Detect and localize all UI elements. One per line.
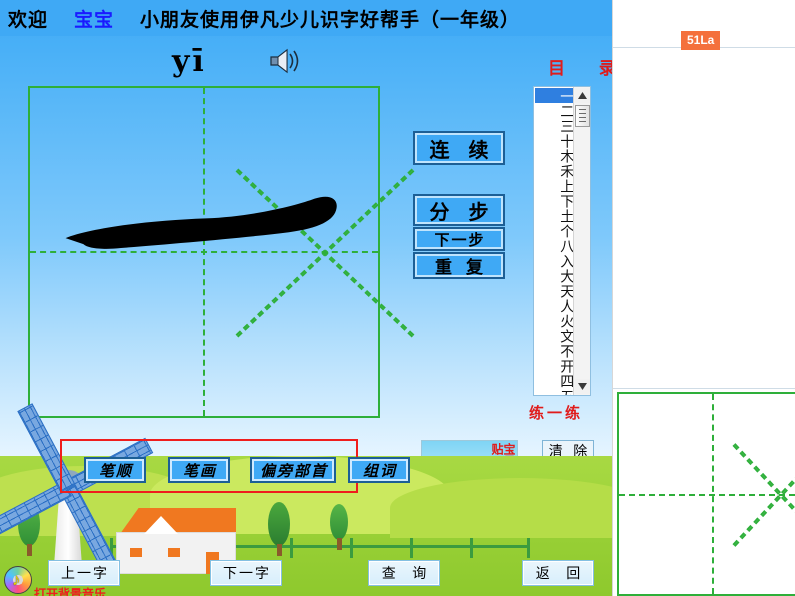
panel-divider	[613, 388, 795, 389]
hill-decoration-3	[390, 478, 612, 538]
catalog-item[interactable]: 四	[535, 373, 573, 388]
catalog-item[interactable]: 人	[535, 298, 573, 313]
catalog-item[interactable]: 上	[535, 178, 573, 193]
continuous-play-button[interactable]: 连 续	[413, 131, 505, 165]
catalog-item[interactable]: 入	[535, 253, 573, 268]
strokes-button[interactable]: 笔画	[168, 457, 230, 483]
next-character-button[interactable]: 下一字	[210, 560, 282, 586]
catalog-title: 目 录	[534, 54, 612, 79]
main-stage: 欢迎 宝宝 小朋友使用伊凡少儿识字好帮手（一年级） yī 连 续 分 步	[0, 0, 612, 596]
right-side-panel: 51La	[612, 0, 795, 596]
next-step-button[interactable]: 下一步	[413, 227, 505, 251]
word-formation-button[interactable]: 组词	[348, 457, 410, 483]
scrollbar-up-arrow-icon[interactable]	[575, 88, 590, 103]
previous-character-button[interactable]: 上一字	[48, 560, 120, 586]
title-welcome: 欢迎	[8, 5, 48, 32]
badge-row: 51La	[613, 0, 795, 48]
catalog-item[interactable]: 开	[535, 358, 573, 373]
back-button[interactable]: 返 回	[522, 560, 594, 586]
repeat-button[interactable]: 重 复	[413, 252, 505, 279]
catalog-item[interactable]: 文	[535, 328, 573, 343]
catalog-items-container: 一二三十木禾上下土个八入大天人火文不开四五目耳头米见白田电	[534, 87, 573, 395]
tree-decoration-3	[330, 504, 348, 550]
query-button[interactable]: 查 询	[368, 560, 440, 586]
scrollbar-thumb[interactable]	[575, 105, 590, 127]
character-stroke-drawing	[30, 88, 378, 416]
catalog-list-box[interactable]: 一二三十木禾上下土个八入大天人火文不开四五目耳头米见白田电	[533, 86, 591, 396]
cd-music-icon[interactable]	[4, 566, 32, 594]
catalog-item[interactable]: 八	[535, 238, 573, 253]
catalog-item[interactable]: 五	[535, 388, 573, 395]
catalog-scrollbar[interactable]	[573, 87, 590, 395]
catalog-item[interactable]: 一	[535, 88, 573, 103]
51la-badge[interactable]: 51La	[681, 31, 720, 50]
title-product-name: 小朋友使用伊凡少儿识字好帮手（一年级）	[140, 5, 520, 32]
catalog-item[interactable]: 不	[535, 343, 573, 358]
app-title-bar: 欢迎 宝宝 小朋友使用伊凡少儿识字好帮手（一年级）	[0, 0, 612, 36]
practice-section-title: 练一练	[529, 402, 583, 423]
catalog-item[interactable]: 大	[535, 268, 573, 283]
catalog-item[interactable]: 木	[535, 148, 573, 163]
catalog-item[interactable]: 二	[535, 103, 573, 118]
speaker-icon[interactable]	[268, 48, 302, 74]
catalog-item[interactable]: 十	[535, 133, 573, 148]
catalog-item[interactable]: 土	[535, 208, 573, 223]
pinyin-label: yī	[172, 44, 207, 79]
application-window: 欢迎 宝宝 小朋友使用伊凡少儿识字好帮手（一年级） yī 连 续 分 步	[0, 0, 795, 596]
tree-decoration-2	[268, 502, 290, 556]
catalog-item[interactable]: 个	[535, 223, 573, 238]
catalog-items-viewport[interactable]: 一二三十木禾上下土个八入大天人火文不开四五目耳头米见白田电	[534, 87, 573, 395]
radicals-button[interactable]: 偏旁部首	[250, 457, 336, 483]
stroke-order-button[interactable]: 笔顺	[84, 457, 146, 483]
title-user-name: 宝宝	[74, 5, 114, 32]
catalog-item[interactable]: 三	[535, 118, 573, 133]
catalog-item[interactable]: 下	[535, 193, 573, 208]
practice-grid-horizontal-line	[619, 494, 795, 496]
catalog-item[interactable]: 禾	[535, 163, 573, 178]
step-by-step-button[interactable]: 分 步	[413, 194, 505, 226]
catalog-item[interactable]: 火	[535, 313, 573, 328]
catalog-item[interactable]: 天	[535, 283, 573, 298]
character-writing-grid	[28, 86, 380, 418]
practice-writing-grid[interactable]	[617, 392, 795, 596]
practice-grid-vertical-line	[712, 394, 714, 594]
background-music-label[interactable]: 打开背景音乐	[34, 585, 106, 596]
scrollbar-down-arrow-icon[interactable]	[575, 379, 590, 394]
